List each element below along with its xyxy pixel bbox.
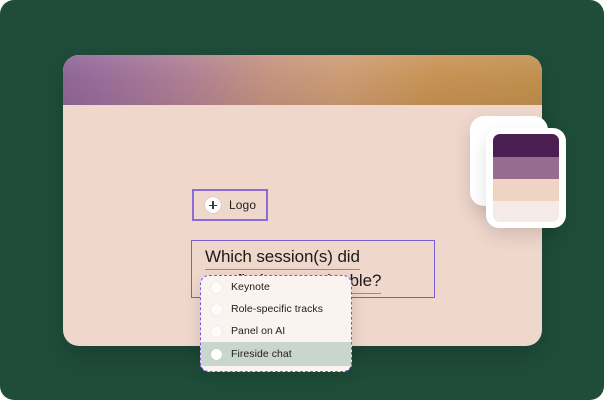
- plus-circle-icon: [205, 197, 221, 213]
- palette-swatch[interactable]: [493, 157, 559, 179]
- question-line-1: Which session(s) did: [205, 246, 360, 270]
- radio-icon[interactable]: [211, 304, 222, 315]
- option-label: Fireside chat: [231, 348, 292, 360]
- list-item[interactable]: Panel on AI: [201, 320, 351, 342]
- radio-icon-selected[interactable]: [211, 349, 222, 360]
- palette-swatch[interactable]: [493, 201, 559, 222]
- list-item[interactable]: Role-specific tracks: [201, 298, 351, 320]
- option-label: Panel on AI: [231, 325, 285, 337]
- radio-icon[interactable]: [211, 282, 222, 293]
- card-banner-gradient: [63, 55, 542, 105]
- logo-label: Logo: [229, 198, 256, 212]
- option-label: Role-specific tracks: [231, 303, 323, 315]
- answer-options-panel[interactable]: Keynote Role-specific tracks Panel on AI…: [200, 275, 352, 372]
- color-palette-widget[interactable]: [470, 116, 566, 228]
- option-label: Keynote: [231, 281, 270, 293]
- palette-swatch[interactable]: [493, 134, 559, 157]
- list-item-selected[interactable]: Fireside chat: [201, 342, 351, 366]
- list-item[interactable]: Keynote: [201, 276, 351, 298]
- palette-swatch-stack[interactable]: [493, 134, 559, 222]
- radio-icon[interactable]: [211, 326, 222, 337]
- palette-swatch[interactable]: [493, 179, 559, 201]
- screenshot-stage: Logo Which session(s) did you find most …: [0, 0, 604, 400]
- logo-placeholder[interactable]: Logo: [192, 189, 268, 221]
